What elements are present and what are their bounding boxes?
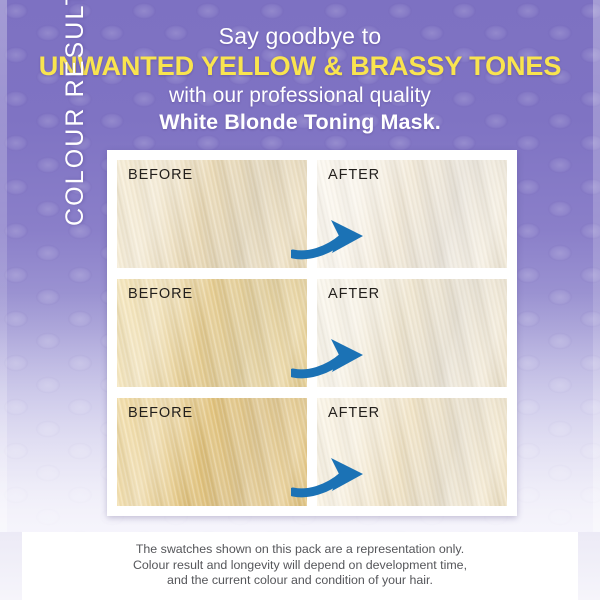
table-row: BEFORE AFTER bbox=[117, 279, 507, 387]
product-pack-panel: Say goodbye to UNWANTED YELLOW & BRASSY … bbox=[0, 0, 600, 600]
colour-result-label: COLOUR RESULT bbox=[58, 0, 92, 226]
swatch-label-after: AFTER bbox=[328, 286, 380, 302]
disclaimer-line-2: Colour result and longevity will depend … bbox=[0, 558, 600, 574]
swatch-before-1: BEFORE bbox=[117, 160, 307, 268]
swatch-label-before: BEFORE bbox=[128, 405, 193, 421]
table-row: BEFORE AFTER bbox=[117, 398, 507, 506]
swatch-label-before: BEFORE bbox=[128, 286, 193, 302]
swatch-after-3: AFTER bbox=[317, 398, 507, 506]
swatch-row-list: BEFORE AFTER BEFORE bbox=[117, 160, 507, 506]
swatch-label-after: AFTER bbox=[328, 405, 380, 421]
swatch-label-before: BEFORE bbox=[128, 167, 193, 183]
swatch-before-2: BEFORE bbox=[117, 279, 307, 387]
swatch-before-3: BEFORE bbox=[117, 398, 307, 506]
disclaimer-line-3: and the current colour and condition of … bbox=[0, 573, 600, 589]
swatch-label-after: AFTER bbox=[328, 167, 380, 183]
disclaimer-line-1: The swatches shown on this pack are a re… bbox=[0, 542, 600, 558]
footer-band: The swatches shown on this pack are a re… bbox=[0, 532, 600, 600]
table-row: BEFORE AFTER bbox=[117, 160, 507, 268]
swatch-after-2: AFTER bbox=[317, 279, 507, 387]
disclaimer-text: The swatches shown on this pack are a re… bbox=[0, 542, 600, 589]
swatch-after-1: AFTER bbox=[317, 160, 507, 268]
swatch-comparison-card: BEFORE AFTER BEFORE bbox=[107, 150, 517, 516]
